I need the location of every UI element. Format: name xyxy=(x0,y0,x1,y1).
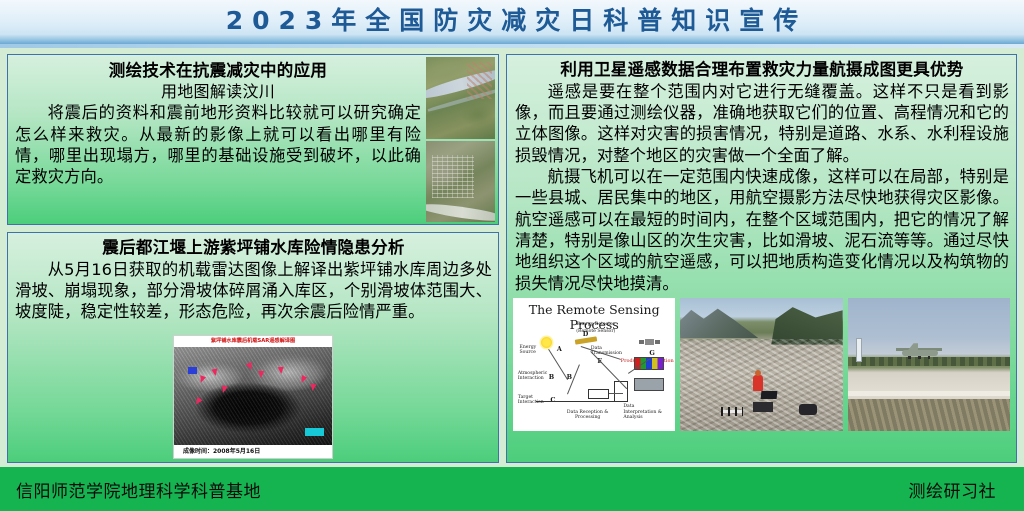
uav-runway-photo xyxy=(848,298,1010,431)
marker-a: A xyxy=(557,345,562,353)
panel-zipingpu-heading: 震后都江堰上游紫坪铺水库险情隐患分析 xyxy=(15,238,492,259)
footer-organization: 信阳师范学院地理科学科普基地 xyxy=(16,477,261,502)
sar-arrow-marker xyxy=(309,384,316,392)
remote-sensing-diagram-title: The Remote Sensing Process xyxy=(513,302,675,332)
panel-satellite-paragraph-2: 航摄飞机可以在一定范围内快速成像，这样可以在局部，特别是一些县城、居民集中的地区… xyxy=(515,166,1009,294)
field-operator xyxy=(753,375,763,391)
panel-satellite-remote-sensing: 利用卫星遥感数据合理布置救灾力量航摄成图更具优势 遥感是要在整个范围内对它进行无… xyxy=(506,54,1017,463)
uav-landing-gear xyxy=(908,356,930,359)
panel-mapping-images xyxy=(426,55,498,224)
mountain-left xyxy=(680,306,758,338)
airborne-sensor-icon xyxy=(574,336,597,344)
panel-mapping-heading: 测绘技术在抗震减灾中的应用 xyxy=(15,61,421,82)
sar-cyan-label xyxy=(305,428,324,436)
poster-root: 2023年全国防灾减灾日科普知识宣传 测绘技术在抗震减灾中的应用 用地图解读汶川… xyxy=(0,0,1024,511)
sar-figure-title: 紫坪铺水库震后机载SAR遥感解译图 xyxy=(174,336,332,347)
equipment-bag xyxy=(799,404,817,415)
panel-zipingpu-reservoir: 震后都江堰上游紫坪铺水库险情隐患分析 从5月16日获取的机载雷达图像上解译出紫坪… xyxy=(7,232,499,463)
panel-mapping-text: 测绘技术在抗震减灾中的应用 用地图解读汶川 将震后的资料和震前地形资料比较就可以… xyxy=(8,55,426,224)
sun-icon xyxy=(541,337,552,348)
footer-club: 测绘研习社 xyxy=(909,477,997,502)
panel-mapping-subheading: 用地图解读汶川 xyxy=(15,82,421,103)
field-survey-photo-art xyxy=(680,298,842,431)
ground-surface-line xyxy=(536,401,620,402)
monitor-icon xyxy=(634,378,664,391)
poster-footer: 信阳师范学院地理科学科普基地 测绘研习社 xyxy=(0,467,1024,511)
sar-figure-card: 紫坪铺水库震后机载SAR遥感解译图 xyxy=(173,335,333,459)
marker-g: G xyxy=(649,349,654,357)
panel-mapping-paragraph: 将震后的资料和震前地形资料比较就可以研究确定怎么样来救灾。从最新的影像上就可以看… xyxy=(15,102,421,187)
aerial-photo-town-riverside xyxy=(426,141,495,223)
remote-sensing-process-diagram: The Remote Sensing Process Energy Source… xyxy=(513,298,675,431)
field-survey-photo xyxy=(680,298,842,431)
page-title: 2023年全国防灾减灾日科普知识宣传 xyxy=(217,8,808,36)
foreground-grass xyxy=(848,399,1010,431)
sar-arrow-marker xyxy=(257,370,264,377)
label-energy-detector: Energy Detector xyxy=(568,322,623,327)
label-remote-sensor: (Remote Sensor) xyxy=(568,329,623,334)
sar-arrow-marker xyxy=(211,368,218,376)
data-reception-station-icon xyxy=(588,389,609,400)
sar-arrow-marker xyxy=(278,366,285,373)
aerial-photo-river-bend xyxy=(426,57,495,139)
uav-aircraft xyxy=(896,343,942,359)
poster-header: 2023年全国防灾减灾日科普知识宣传 xyxy=(0,0,1024,44)
satellite-icon xyxy=(645,339,654,345)
panel-satellite-paragraph-1: 遥感是要在整个范围内对它进行无缝覆盖。这样不只是看到影像，而且要通过测绘仪器，准… xyxy=(515,81,1009,166)
sar-radar-art xyxy=(174,347,332,445)
label-data-interpretation: Data Interpretation & Analysis xyxy=(623,404,668,420)
sar-figure-caption: 成像时间：2008年5月16日 xyxy=(174,445,332,458)
ray-line xyxy=(609,393,624,394)
remote-sensing-diagram-art: The Remote Sensing Process Energy Source… xyxy=(513,298,675,431)
panel-zipingpu-figure-area: 紫坪铺水库震后机载SAR遥感解译图 xyxy=(8,322,498,462)
control-tower xyxy=(856,338,862,362)
label-data-reception: Data Reception & Processing xyxy=(567,410,609,421)
panel-zipingpu-text: 震后都江堰上游紫坪铺水库险情隐患分析 从5月16日获取的机载雷达图像上解译出紫坪… xyxy=(8,233,498,322)
aerial-photo-river-bend-art xyxy=(426,57,495,139)
sar-blue-marker xyxy=(188,367,197,374)
equipment-case xyxy=(753,402,773,412)
uav-runway-photo-art xyxy=(848,298,1010,431)
panel-satellite-text: 利用卫星遥感数据合理布置救灾力量航摄成图更具优势 遥感是要在整个范围内对它进行无… xyxy=(507,55,1016,294)
panel-zipingpu-paragraph: 从5月16日获取的机载雷达图像上解译出紫坪铺水库周边多处滑坡、崩塌现象，部分滑坡… xyxy=(15,259,492,323)
right-column: 利用卫星遥感数据合理布置救灾力量航摄成图更具优势 遥感是要在整个范围内对它进行无… xyxy=(506,54,1017,463)
poster-body: 测绘技术在抗震减灾中的应用 用地图解读汶川 将震后的资料和震前地形资料比较就可以… xyxy=(0,48,1024,467)
quadcopter-drone xyxy=(721,407,743,416)
runway-strip xyxy=(848,391,1010,396)
label-atmospheric-interaction: Atmospheric Interaction xyxy=(518,371,550,382)
aerial-photo-town-riverside-art xyxy=(426,141,495,223)
panel-satellite-figures: The Remote Sensing Process Energy Source… xyxy=(507,294,1016,436)
marker-b1: B xyxy=(549,373,554,381)
sar-radar-interpretation-map xyxy=(174,347,332,445)
panel-mapping-technology: 测绘技术在抗震减灾中的应用 用地图解读汶川 将震后的资料和震前地形资料比较就可以… xyxy=(7,54,499,225)
panel-satellite-heading: 利用卫星遥感数据合理布置救灾力量航摄成图更具优势 xyxy=(515,60,1009,81)
laptop-icon xyxy=(761,391,778,399)
left-column: 测绘技术在抗震减灾中的应用 用地图解读汶川 将震后的资料和震前地形资料比较就可以… xyxy=(7,54,499,463)
